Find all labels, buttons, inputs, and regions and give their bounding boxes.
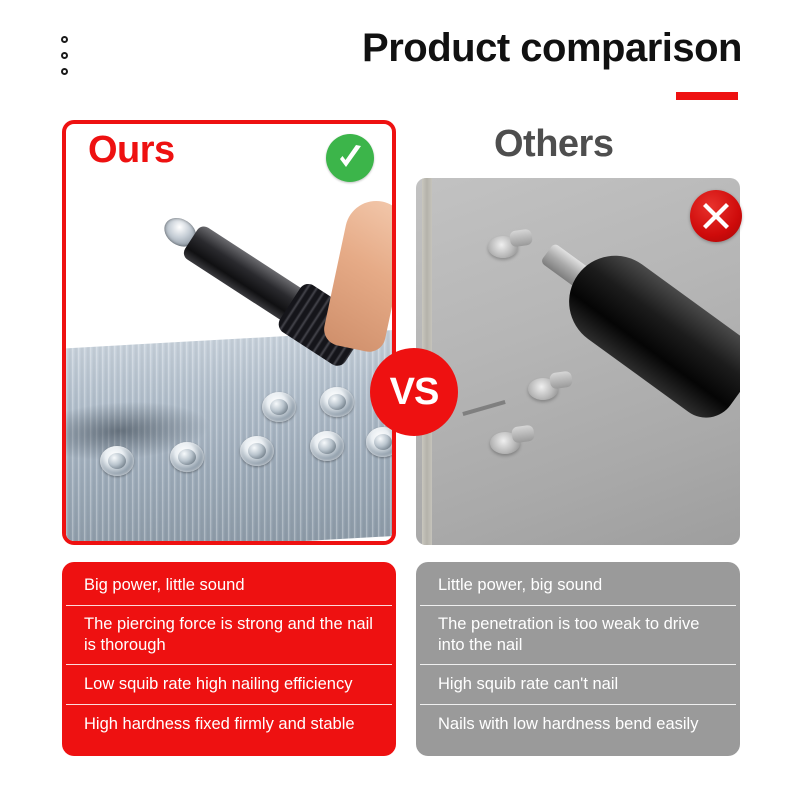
list-item: High squib rate can't nail (420, 665, 736, 705)
nail-stub (509, 229, 533, 248)
ours-product-photo (66, 182, 392, 545)
competitor-tool (518, 215, 740, 440)
list-item: Nails with low hardness bend easily (420, 705, 736, 744)
bent-nail (490, 432, 520, 454)
others-header: Others (416, 118, 740, 176)
bent-nail (528, 378, 558, 400)
list-item: The penetration is too weak to drive int… (420, 606, 736, 665)
surface-scratch (462, 400, 505, 416)
ours-feature-list: Big power, little sound The piercing for… (62, 562, 396, 756)
ours-label: Ours (88, 124, 175, 176)
vs-badge: VS (370, 348, 458, 436)
check-circle-icon (326, 134, 374, 182)
nail-stub (511, 425, 535, 444)
title-underline-accent (676, 92, 738, 100)
dot-icon (61, 52, 68, 59)
x-circle-icon (690, 190, 742, 242)
dot-icon (61, 68, 68, 75)
nail-head (100, 446, 134, 476)
nail-stub (549, 371, 573, 390)
bent-nail (488, 236, 518, 258)
page-title: Product comparison (362, 26, 742, 71)
nail-head (310, 431, 344, 461)
others-label: Others (494, 118, 613, 170)
nail-head (320, 387, 354, 417)
others-feature-list: Little power, big sound The penetration … (416, 562, 740, 756)
hand-finger (321, 195, 392, 355)
list-item: The piercing force is strong and the nai… (66, 606, 392, 665)
list-item: High hardness fixed firmly and stable (66, 705, 392, 744)
ours-card: Ours (62, 120, 396, 545)
others-card: Others (416, 118, 740, 176)
list-item: Little power, big sound (420, 566, 736, 606)
list-item: Low squib rate high nailing efficiency (66, 665, 392, 705)
list-item: Big power, little sound (66, 566, 392, 606)
nail-head (262, 392, 296, 422)
dot-icon (61, 36, 68, 43)
nail-head (240, 436, 274, 466)
nail-head (366, 427, 392, 457)
decorative-dots (61, 36, 68, 75)
nail-head (170, 442, 204, 472)
